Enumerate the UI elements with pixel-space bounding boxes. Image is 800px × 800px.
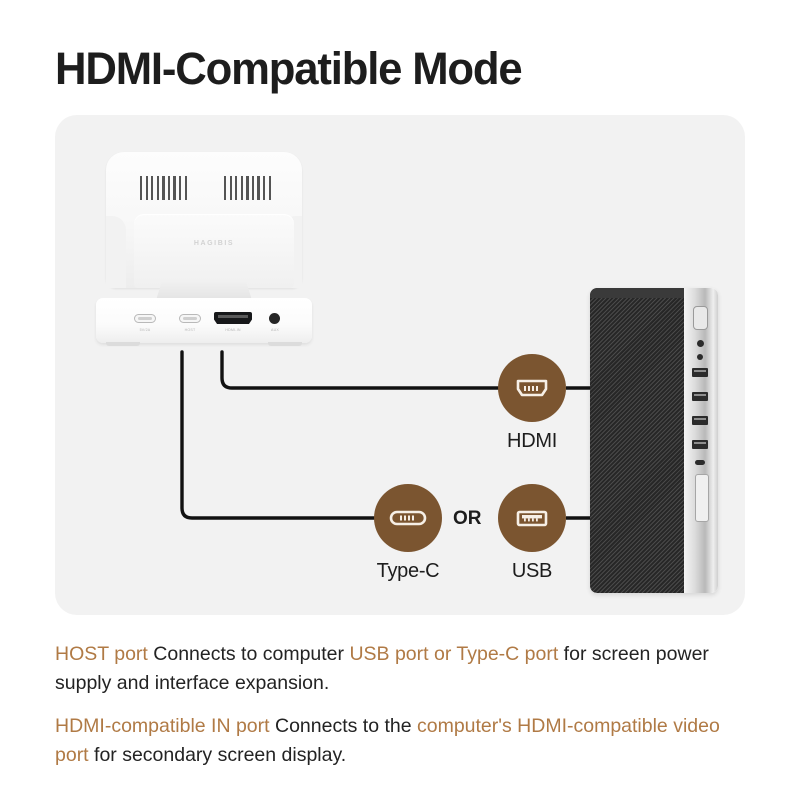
monitor-notch-left xyxy=(106,216,126,288)
badge-usb[interactable] xyxy=(498,484,566,552)
monitor-body: HAGIBIS xyxy=(106,152,302,288)
tower-optical-slot xyxy=(695,474,709,522)
dock-port-host xyxy=(179,314,201,323)
tower-audio-jack-2 xyxy=(697,354,703,360)
dock-foot-right xyxy=(268,342,302,346)
tower-audio-jack-1 xyxy=(697,340,704,347)
dock-port-aux xyxy=(269,313,280,324)
dock-base: 5V/2A HOST HDMI-IN AUX xyxy=(96,298,312,343)
caption-line-1: HOST port Connects to computer USB port … xyxy=(55,640,755,698)
caption-1-usb-typec: USB port or Type-C port xyxy=(349,643,558,665)
pc-tower xyxy=(590,288,718,593)
caption-2-tail: for secondary screen display. xyxy=(89,744,347,766)
tower-usb-port-2 xyxy=(692,392,708,401)
tower-power-button[interactable] xyxy=(693,306,708,330)
badge-typec[interactable] xyxy=(374,484,442,552)
dock-port-host-label: HOST xyxy=(167,328,213,332)
badge-typec-label: Type-C xyxy=(338,560,478,583)
dock-foot-left xyxy=(106,342,140,346)
page-root: HDMI-Compatible Mode HAGIBIS xyxy=(0,0,800,800)
tower-mesh-panel xyxy=(590,288,684,593)
dock-port-hdmi-in-label: HDMI-IN xyxy=(210,328,256,332)
dock-port-5v2a xyxy=(134,314,156,323)
tower-usb-port-3 xyxy=(692,416,708,425)
caption-2-mid: Connects to the xyxy=(270,715,417,737)
page-title: HDMI-Compatible Mode xyxy=(55,44,522,94)
caption-2-hdmi-in-port: HDMI-compatible IN port xyxy=(55,715,270,737)
caption-1-host-port: HOST port xyxy=(55,643,148,665)
usb-a-port-icon xyxy=(515,507,549,529)
tower-usb-port-4 xyxy=(692,440,708,449)
badge-usb-label: USB xyxy=(462,560,602,583)
hagibis-device: HAGIBIS 5V/2A HOST HDMI-IN AUX xyxy=(96,152,312,352)
tower-usb-c-port xyxy=(695,460,705,465)
monitor-face: HAGIBIS xyxy=(134,214,294,288)
badge-hdmi-label: HDMI xyxy=(462,430,602,453)
dock-port-aux-label: AUX xyxy=(252,328,298,332)
usb-c-port-icon xyxy=(389,508,427,528)
brand-label: HAGIBIS xyxy=(134,240,294,247)
vent-left xyxy=(140,176,187,200)
hdmi-port-icon xyxy=(515,377,549,399)
vent-right xyxy=(224,176,271,200)
tower-side-panel xyxy=(684,288,718,593)
badge-hdmi[interactable] xyxy=(498,354,566,422)
dock-port-5v2a-label: 5V/2A xyxy=(122,328,168,332)
caption-1-mid: Connects to computer xyxy=(148,643,350,665)
caption-block: HOST port Connects to computer USB port … xyxy=(55,640,755,784)
dock-port-hdmi-in xyxy=(214,312,252,324)
caption-line-2: HDMI-compatible IN port Connects to the … xyxy=(55,712,755,770)
tower-usb-port-1 xyxy=(692,368,708,377)
or-connector-text: OR xyxy=(453,508,482,530)
